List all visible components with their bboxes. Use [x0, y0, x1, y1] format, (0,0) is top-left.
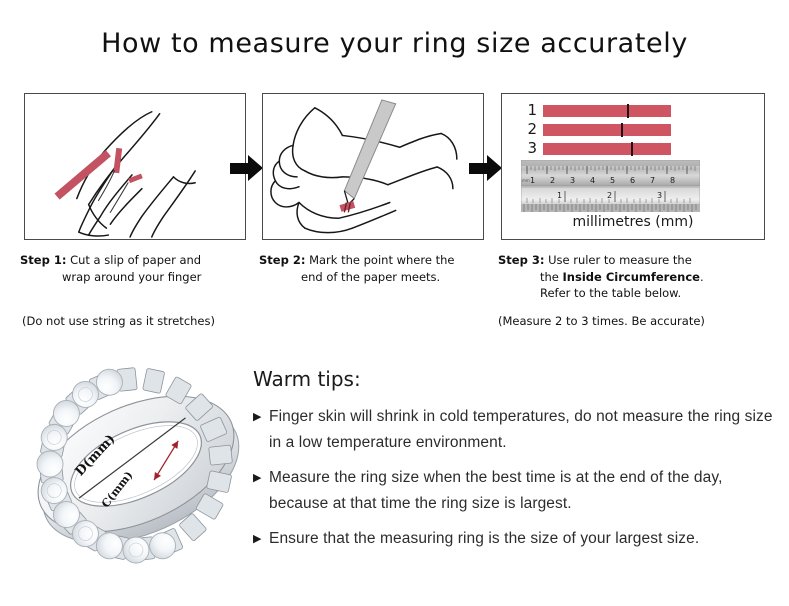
warm-tips-list: ▶ Finger skin will shrink in cold temper… [253, 404, 773, 561]
step-3-caption: Step 3: Use ruler to measure the the Ins… [498, 252, 770, 302]
step-1-caption: Step 1: Cut a slip of paper and wrap aro… [20, 252, 256, 285]
svg-text:6: 6 [630, 176, 635, 185]
hand-marking-paper-with-pen-drawing [263, 94, 483, 239]
step-1-line1: Cut a slip of paper and [70, 253, 201, 267]
list-item: ▶ Finger skin will shrink in cold temper… [253, 404, 773, 456]
arrow-shaft [469, 163, 489, 174]
strip-number-2: 2 [521, 122, 537, 137]
step-3-line3: Refer to the table below. [498, 285, 770, 302]
hand-with-paper-strip-drawing [25, 94, 245, 239]
diamond-eternity-ring-drawing [18, 352, 258, 578]
svg-text:3: 3 [657, 191, 662, 200]
arrow-head [248, 155, 263, 181]
strip-mark-3 [631, 142, 633, 156]
warm-tip-text: Measure the ring size when the best time… [269, 465, 773, 517]
warm-tips-heading: Warm tips: [253, 367, 361, 391]
step-1-line2: wrap around your finger [20, 269, 256, 286]
triangle-bullet-icon: ▶ [253, 465, 269, 517]
step-3-line1: Use ruler to measure the [548, 253, 692, 267]
step-1-illustration-panel [24, 93, 246, 240]
paper-strip-row-3: 3 [521, 141, 671, 156]
step-1-note: (Do not use string as it stretches) [22, 314, 215, 328]
step-2-caption: Step 2: Mark the point where the end of … [259, 252, 495, 285]
list-item: ▶ Ensure that the measuring ring is the … [253, 526, 773, 552]
step-2-line2: end of the paper meets. [259, 269, 495, 286]
step-3-line2: the Inside Circumference. [498, 269, 770, 286]
svg-text:2: 2 [550, 176, 555, 185]
ring-size-guide-page: How to measure your ring size accurately [0, 0, 789, 606]
strip-number-3: 3 [521, 141, 537, 156]
ring-diagram [18, 352, 258, 578]
list-item: ▶ Measure the ring size when the best ti… [253, 465, 773, 517]
warm-tip-text: Ensure that the measuring ring is the si… [269, 526, 699, 552]
svg-text:8: 8 [670, 176, 675, 185]
step-1-label: Step 1: [20, 253, 66, 267]
paper-strip-1 [543, 105, 671, 117]
svg-text:1: 1 [530, 176, 535, 185]
step-2-label: Step 2: [259, 253, 305, 267]
svg-text:1: 1 [557, 191, 562, 200]
triangle-bullet-icon: ▶ [253, 404, 269, 456]
paper-strip-3 [543, 143, 671, 155]
step-2-illustration-panel [262, 93, 484, 240]
arrow-head [487, 155, 502, 181]
paper-strip-2 [543, 124, 671, 136]
triangle-bullet-icon: ▶ [253, 526, 269, 552]
paper-strip-row-2: 2 [521, 122, 671, 137]
step-3-note: (Measure 2 to 3 times. Be accurate) [498, 314, 705, 328]
svg-text:2: 2 [607, 191, 612, 200]
step-2-line1: Mark the point where the [309, 253, 454, 267]
paper-strip-row-1: 1 [521, 103, 671, 118]
ruler-illustration: 1 2 3 4 5 6 7 8 mm 1 2 3 [521, 160, 700, 212]
svg-text:mm: mm [522, 178, 530, 183]
step-3-label: Step 3: [498, 253, 544, 267]
ruler-unit-caption: millimetres (mm) [501, 214, 765, 230]
arrow-step2-to-step3-icon [469, 155, 503, 181]
svg-text:7: 7 [650, 176, 655, 185]
strip-number-1: 1 [521, 103, 537, 118]
inside-circumference-emphasis: Inside Circumference [563, 270, 700, 284]
step-3-line2-pre: the [540, 270, 563, 284]
strip-mark-2 [621, 123, 623, 137]
arrow-step1-to-step2-icon [230, 155, 264, 181]
strip-mark-1 [627, 104, 629, 118]
svg-text:5: 5 [610, 176, 615, 185]
page-title: How to measure your ring size accurately [0, 28, 789, 59]
step-3-line2-post: . [700, 270, 704, 284]
svg-text:4: 4 [590, 176, 595, 185]
svg-text:3: 3 [570, 176, 575, 185]
arrow-shaft [230, 163, 250, 174]
warm-tip-text: Finger skin will shrink in cold temperat… [269, 404, 773, 456]
ruler-scales: 1 2 3 4 5 6 7 8 mm 1 2 3 [521, 160, 700, 212]
